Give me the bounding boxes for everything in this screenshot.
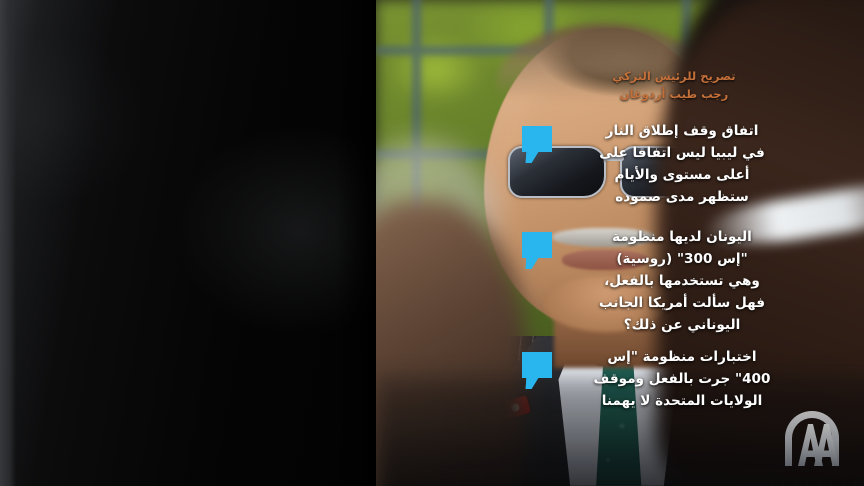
card-kicker: تصريح للرئيس التركي رجب طيب أردوغان: [560, 68, 788, 104]
quote-item-2: اليونان لديها منظومة "إس 300" (روسية) وه…: [568, 226, 796, 336]
kicker-line-2: رجب طيب أردوغان: [560, 86, 788, 104]
quote-item-1: اتفاق وقف إطلاق النار في ليبيا ليس اتفاق…: [568, 120, 796, 208]
panel-left-edge: [0, 0, 16, 486]
quote-item-3: اختبارات منظومة "إس 400" جرت بالفعل وموق…: [568, 346, 796, 412]
speech-bubble-icon: [522, 126, 552, 152]
quote-text-3: اختبارات منظومة "إس 400" جرت بالفعل وموق…: [568, 346, 796, 412]
speech-bubble-icon: [522, 352, 552, 378]
kicker-line-1: تصريح للرئيس التركي: [612, 69, 735, 83]
quote-text-2: اليونان لديها منظومة "إس 300" (روسية) وه…: [568, 226, 796, 336]
speech-bubble-icon: [522, 232, 552, 258]
quote-text-1: اتفاق وقف إطلاق النار في ليبيا ليس اتفاق…: [568, 120, 796, 208]
news-quote-card: تصريح للرئيس التركي رجب طيب أردوغان اتفا…: [0, 0, 864, 486]
text-panel: [0, 0, 376, 486]
panel-content: تصريح للرئيس التركي رجب طيب أردوغان اتفا…: [488, 0, 864, 486]
panel-right-fade: [336, 0, 376, 486]
